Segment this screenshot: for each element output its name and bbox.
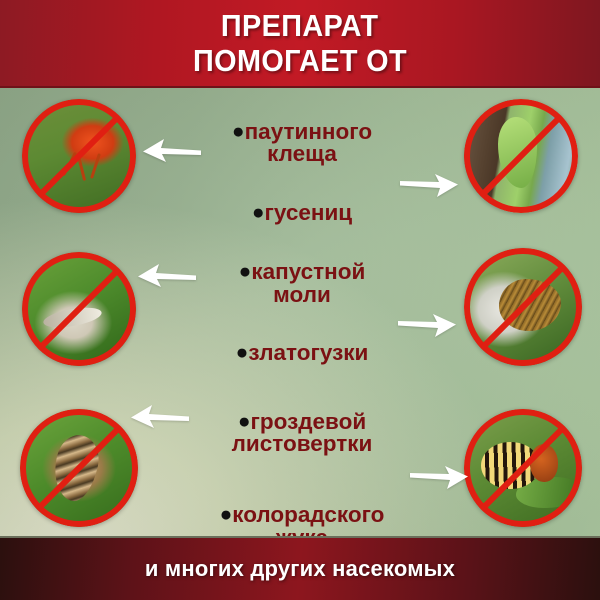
header-banner: ПРЕПАРАТ ПОМОГАЕТ ОТ [0,0,600,88]
pest-photo-colorado-beetle [464,409,582,527]
arrow-right-icon-caterpillar [398,170,462,200]
footer-text: и многих других насекомых [145,556,455,582]
footer-banner: и многих других насекомых [0,536,600,600]
bullet-icon: ● [236,341,249,364]
list-item-label: златогузки [248,340,368,365]
bullet-icon: ● [238,410,251,433]
bullet-icon: ● [239,260,252,283]
bullet-icon: ● [252,201,265,224]
header-title-line-2: ПОМОГАЕТ ОТ [193,44,407,77]
pest-photo-caterpillar [464,99,578,213]
arrow-right-icon-colorado-beetle [408,462,472,492]
arrow-left-icon-grape-leafroller [127,402,191,432]
arrow-right-icon-gold-tail-moth [396,310,460,340]
list-item-gold-tail-moth: ●златогузки [186,319,418,364]
list-item-spider-mite: ●паутинного клеща [186,98,418,166]
list-item-label: гусениц [265,200,353,225]
list-item-cabbage-moth: ●капустной моли [186,239,418,307]
pest-photo-cabbage-moth [22,252,136,366]
list-item-label: гроздевой листовертки [232,409,373,457]
list-item-caterpillars: ●гусениц [186,180,418,225]
pesticide-infographic-poster: ПРЕПАРАТ ПОМОГАЕТ ОТ ●паутинного клеща ●… [0,0,600,600]
header-title-line-1: ПРЕПАРАТ [221,9,378,42]
bullet-icon: ● [232,120,245,143]
pest-photo-grape-leafroller [20,409,138,527]
arrow-left-icon-spider-mite [139,136,203,166]
list-item-label: паутинного клеща [245,119,373,167]
pest-list: ●паутинного клеща ●гусениц ●капустной мо… [186,92,418,532]
pest-photo-spider-mite [22,99,136,213]
list-item-grape-leafroller: ●гроздевой листовертки [186,388,418,456]
arrow-left-icon-cabbage-moth [134,261,198,291]
list-item-label: капустной моли [251,259,365,307]
pest-photo-gold-tail-moth-nest [464,248,582,366]
bullet-icon: ● [220,503,233,526]
